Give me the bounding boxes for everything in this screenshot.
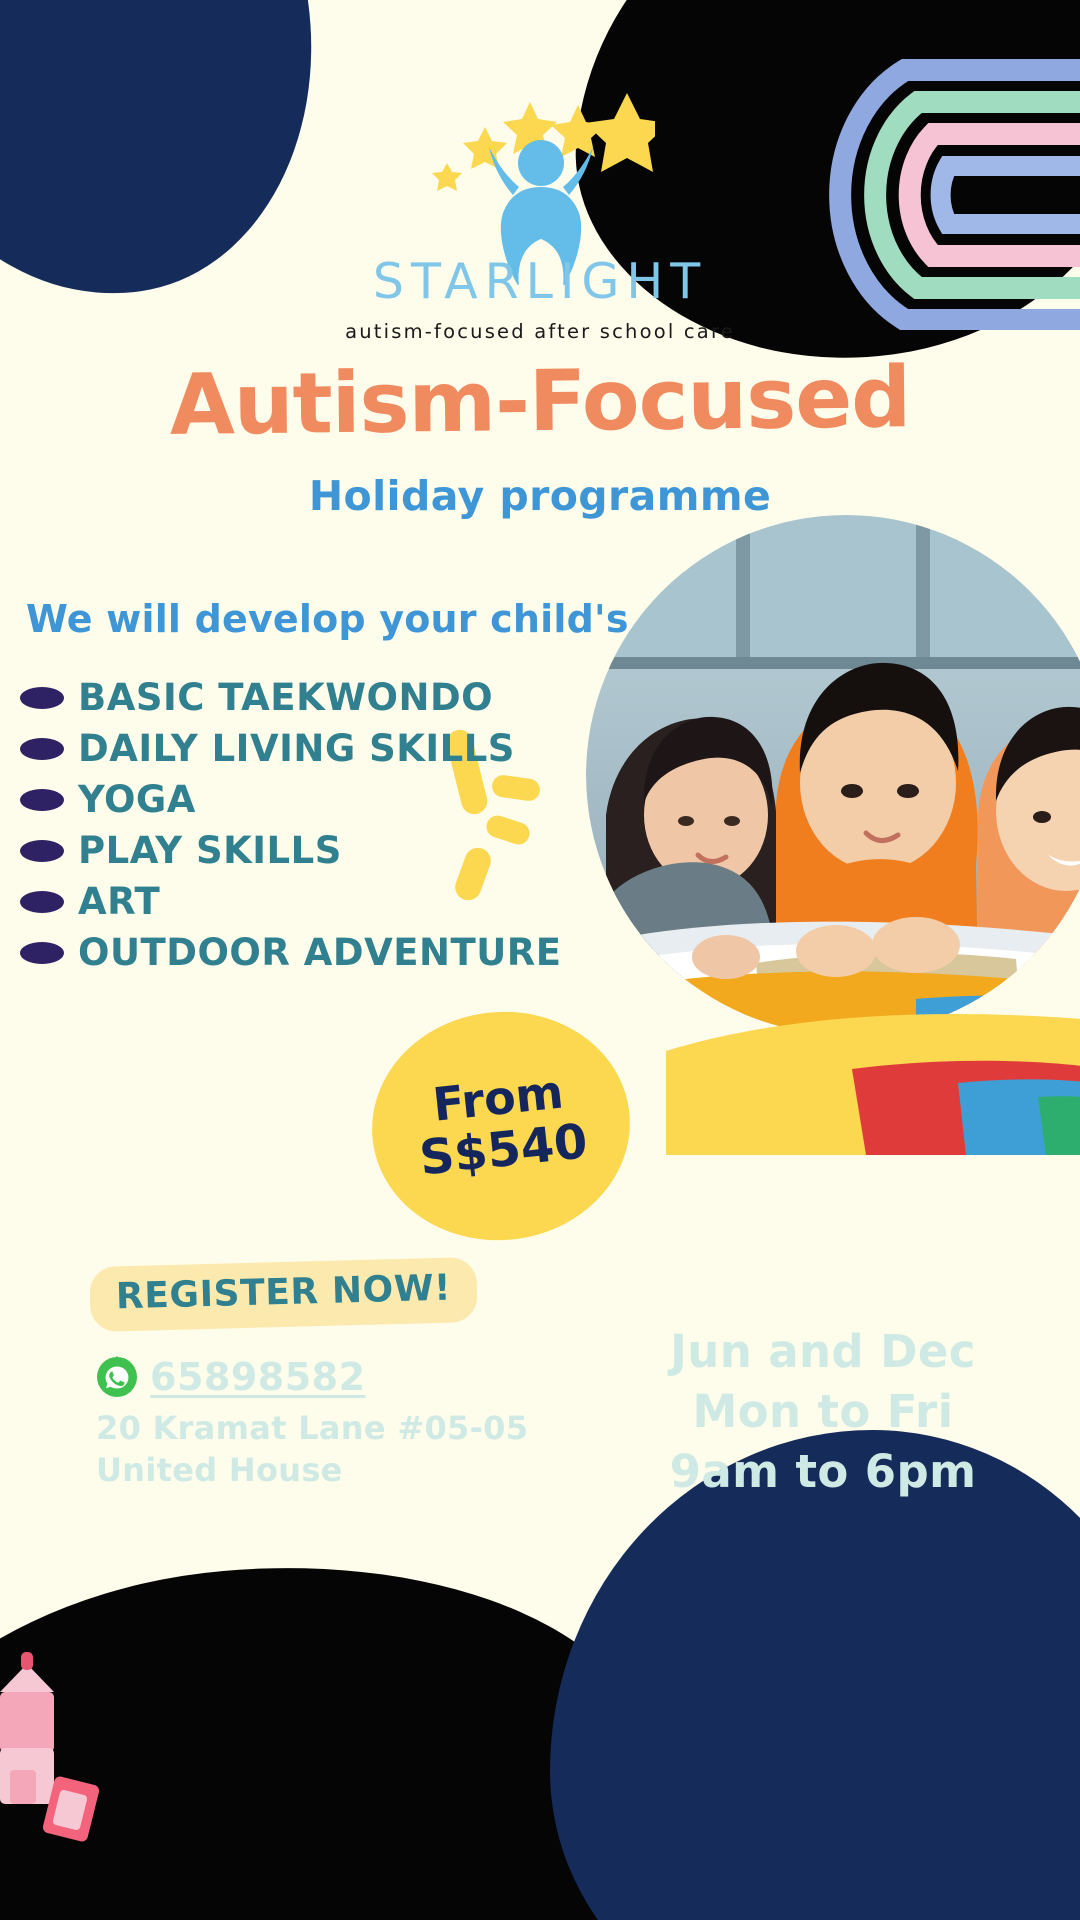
bullet-dot-icon [20, 738, 64, 760]
register-now-label: REGISTER NOW! [115, 1268, 451, 1318]
brand-tagline: autism-focused after school care [0, 320, 1080, 343]
list-item-label: OUTDOOR ADVENTURE [78, 931, 562, 974]
three-children-reading-book-photo [586, 515, 1080, 1035]
poster-canvas: STARLIGHT autism-focused after school ca… [0, 0, 1080, 1920]
whatsapp-icon [96, 1356, 138, 1398]
list-item: BASIC TAEKWONDO [20, 672, 580, 723]
brand-logo: STARLIGHT autism-focused after school ca… [0, 55, 1080, 343]
page-subtitle: Holiday programme [0, 472, 1080, 520]
schedule-hours: 9am to 6pm [588, 1442, 1058, 1502]
bullet-dot-icon [20, 891, 64, 913]
schedule-block: Jun and Dec Mon to Fri 9am to 6pm [588, 1322, 1058, 1502]
skills-list: BASIC TAEKWONDO DAILY LIVING SKILLS YOGA… [20, 672, 580, 978]
list-item-label: ART [78, 880, 160, 923]
skills-heading: We will develop your child's [26, 597, 629, 641]
list-item: OUTDOOR ADVENTURE [20, 927, 580, 978]
address-line-1: 20 Kramat Lane #05-05 [96, 1407, 566, 1449]
phone-number[interactable]: 65898582 [150, 1355, 366, 1399]
contact-block: 65898582 20 Kramat Lane #05-05 United Ho… [96, 1355, 566, 1491]
bullet-dot-icon [20, 942, 64, 964]
list-item: PLAY SKILLS [20, 825, 580, 876]
list-item-label: YOGA [78, 778, 196, 821]
list-item-label: PLAY SKILLS [78, 829, 342, 872]
schedule-months: Jun and Dec [588, 1322, 1058, 1382]
address-block: 20 Kramat Lane #05-05 United House [96, 1407, 566, 1491]
page-title: Autism-Focused [0, 346, 1080, 455]
starlight-child-stars-logo [425, 55, 655, 285]
list-item: DAILY LIVING SKILLS [20, 723, 580, 774]
schedule-days: Mon to Fri [588, 1382, 1058, 1442]
bullet-dot-icon [20, 687, 64, 709]
bullet-dot-icon [20, 840, 64, 862]
photo-bottom-color-band [666, 965, 1080, 1155]
price-badge: From S$540 [361, 999, 641, 1253]
list-item: ART [20, 876, 580, 927]
brand-name: STARLIGHT [0, 253, 1080, 310]
list-item-label: DAILY LIVING SKILLS [78, 727, 515, 770]
toy-blocks-icon [0, 1652, 114, 1842]
address-line-2: United House [96, 1449, 566, 1491]
register-now-button[interactable]: REGISTER NOW! [89, 1257, 478, 1332]
list-item-label: BASIC TAEKWONDO [78, 676, 493, 719]
bullet-dot-icon [20, 789, 64, 811]
phone-row[interactable]: 65898582 [96, 1355, 566, 1399]
navy-blob-bottom-right [550, 1430, 1080, 1920]
list-item: YOGA [20, 774, 580, 825]
